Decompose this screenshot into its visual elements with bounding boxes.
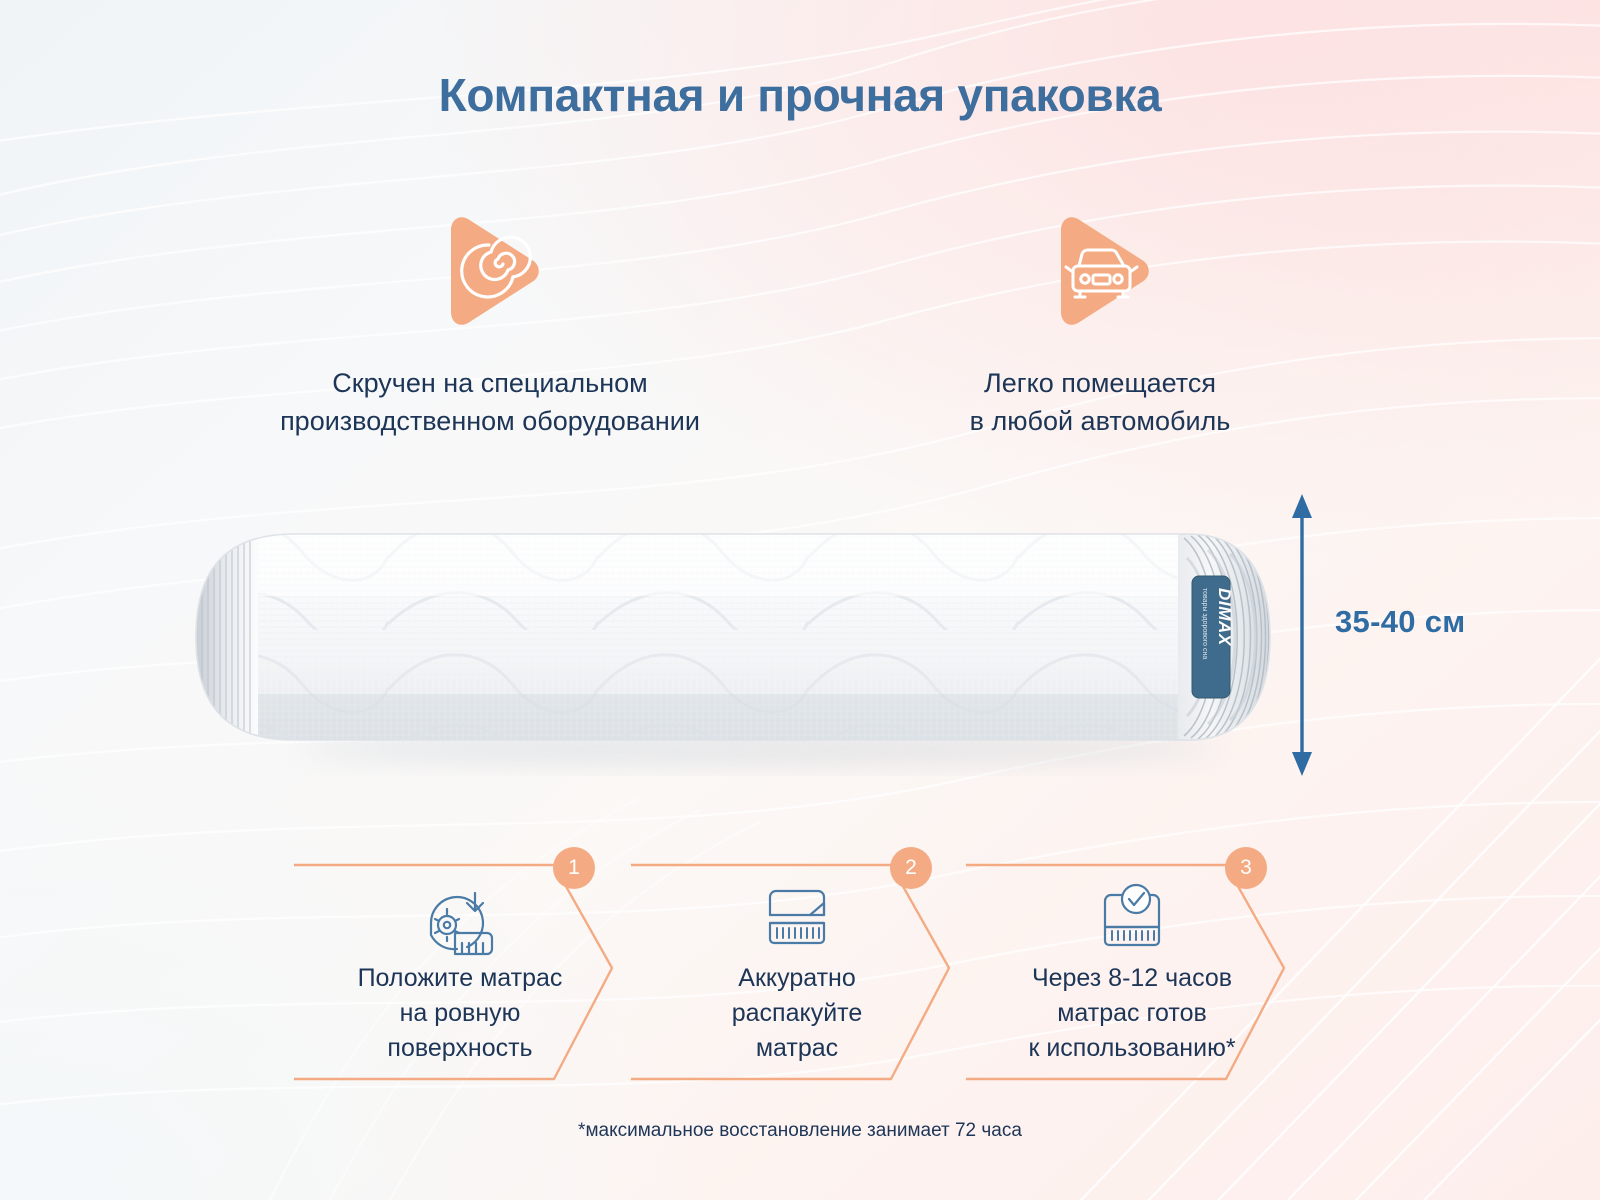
brand-tag: DIMAX товары здорового сна [1192,576,1234,698]
brand-tag-tagline: товары здорового сна [1201,588,1208,659]
brand-tag-name: DIMAX [1215,588,1234,647]
step-number-2: 2 [890,847,932,889]
double-arrow-vertical-icon [1292,494,1312,776]
dimension-label: 35-40 см [1335,604,1465,640]
step-number-1: 1 [553,847,595,889]
step-number-3: 3 [1225,847,1267,889]
feature-caption-2: Легко помещается в любой автомобиль [835,364,1365,441]
feature-badge-2 [1025,196,1175,346]
step-text-1: Положите матрас на ровную поверхность [292,961,628,1066]
mattress-unwrap-icon [754,875,840,961]
page-title: Компактная и прочная упаковка [0,68,1600,122]
measuring-tape-icon [417,875,503,961]
feature-badge-1 [415,196,565,346]
feature-caption-1: Скручен на специальном производственном … [195,364,785,441]
step-card-3[interactable]: 3 Через 8-12 часов матрас готов к исполь… [964,843,1300,1093]
footnote: *максимальное восстановление занимает 72… [0,1120,1600,1142]
rolled-mattress-image: DIMAX товары здорового сна [178,498,1288,776]
step-text-3: Через 8-12 часов матрас готов к использо… [964,961,1300,1066]
dimension-indicator: 35-40 см [1280,492,1580,782]
feature-block-rolled: Скручен на специальном производственном … [195,196,785,441]
infographic-canvas: Компактная и прочная упаковка Скручен на… [0,0,1600,1200]
step-text-2: Аккуратно распакуйте матрас [629,961,965,1066]
step-card-1[interactable]: 1 Положите матрас на ровную поверхность [292,843,628,1093]
step-card-2[interactable]: 2 Аккуратно распакуйте матрас [629,843,965,1093]
steps-row: 1 Положите матрас на ровную поверхность [292,843,1308,1093]
feature-block-car: Легко помещается в любой автомобиль [835,196,1365,441]
mattress-check-icon [1089,875,1175,961]
